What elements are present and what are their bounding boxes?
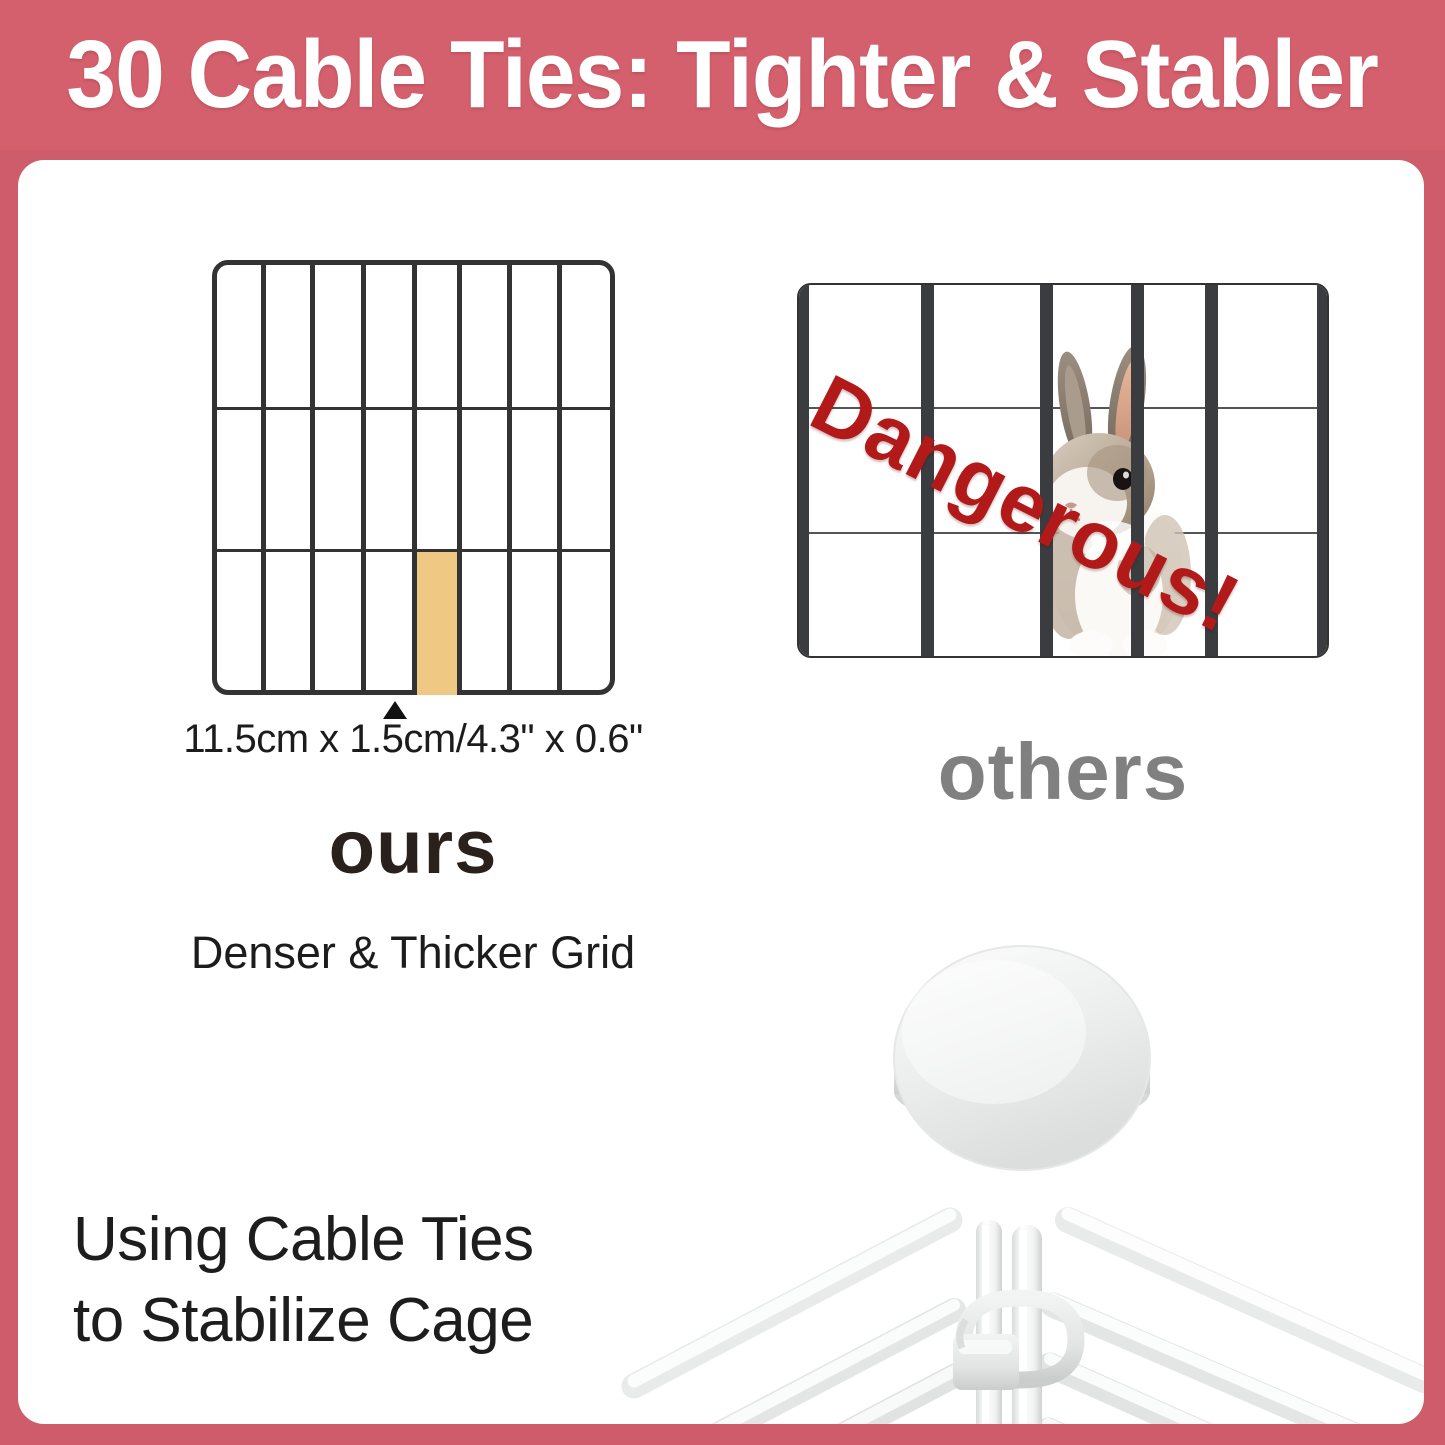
others-grid-bar (1317, 283, 1329, 658)
banner-title: 30 Cable Ties: Tighter & Stabler (67, 27, 1379, 123)
ours-grid-hline (212, 407, 615, 410)
ours-title: ours (183, 804, 643, 891)
ours-grid-highlight-cell (415, 551, 458, 695)
others-grid: Dangerous! (797, 283, 1329, 658)
bottom-caption-line2: to Stabilize Cage (73, 1281, 534, 1362)
header-banner: 30 Cable Ties: Tighter & Stabler (0, 0, 1445, 150)
ours-grid-vline (412, 260, 417, 695)
ours-grid (212, 260, 615, 695)
others-grid-bar (797, 283, 809, 658)
ours-comparison-block: 11.5cm x 1.5cm/4.3" x 0.6" ours Denser &… (183, 260, 643, 979)
ours-grid-hline (212, 549, 615, 552)
ours-grid-vline (507, 260, 512, 695)
content-card: 11.5cm x 1.5cm/4.3" x 0.6" ours Denser &… (18, 160, 1424, 1424)
ours-grid-vline (310, 260, 315, 695)
ours-grid-vline (457, 260, 462, 695)
triangle-up-icon (383, 701, 407, 719)
ours-subtitle: Denser & Thicker Grid (183, 927, 643, 979)
bottom-caption-line1: Using Cable Ties (73, 1200, 534, 1281)
ours-dimensions-label: 11.5cm x 1.5cm/4.3" x 0.6" (183, 717, 643, 762)
bottom-caption: Using Cable Ties to Stabilize Cage (73, 1200, 534, 1361)
others-title: others (763, 726, 1363, 818)
others-comparison-block: Dangerous! others (763, 283, 1363, 818)
cage-corner-icon (598, 920, 1424, 1424)
ours-grid-vline (261, 260, 266, 695)
ours-grid-vline (361, 260, 366, 695)
ours-grid-vline (557, 260, 562, 695)
infographic-page: 30 Cable Ties: Tighter & Stabler (0, 0, 1445, 1445)
